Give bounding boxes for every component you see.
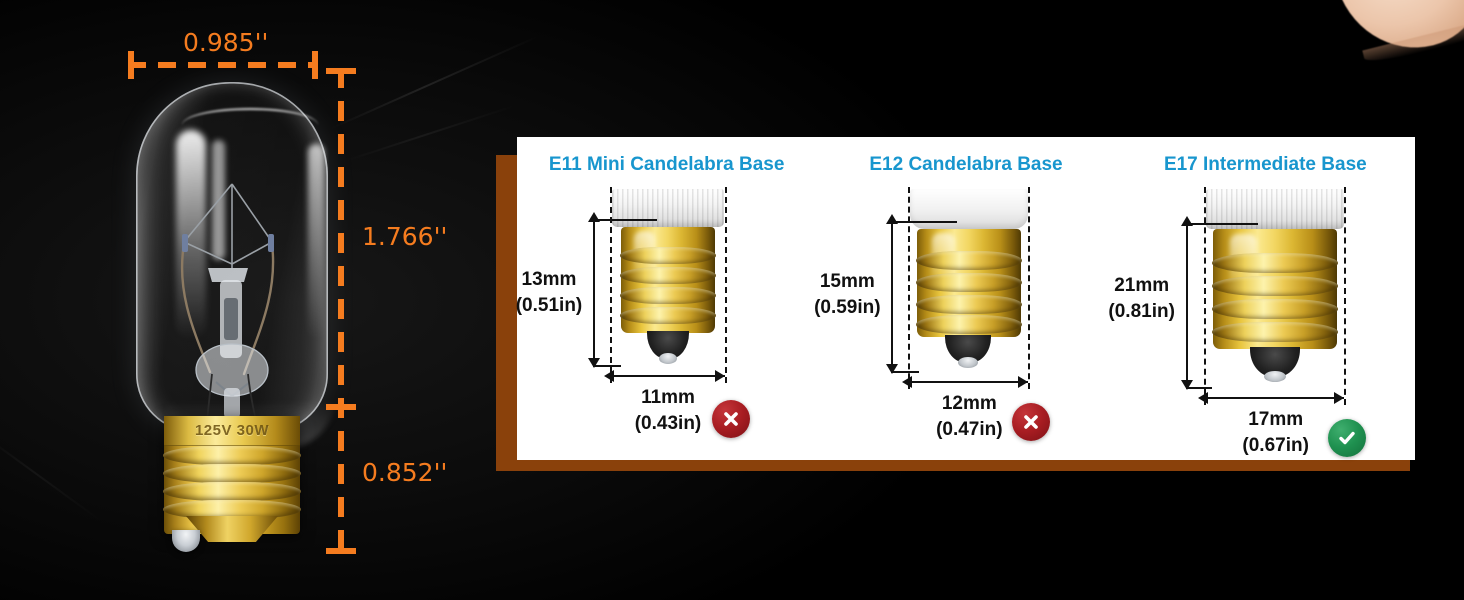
height-imperial: (0.81in)	[1100, 299, 1184, 325]
shell-thread	[916, 251, 1022, 270]
height-imperial: (0.59in)	[806, 295, 888, 321]
height-dimension-line	[338, 68, 344, 554]
socket-tip-contact	[1250, 347, 1300, 377]
green-check-icon	[1328, 419, 1366, 457]
socket-screw-shell	[917, 229, 1021, 337]
height-imperial: (0.51in)	[509, 293, 589, 319]
base-thread	[163, 482, 301, 501]
socket-figure-e12: 15mm (0.59in) 12mm (0.47in)	[816, 185, 1115, 415]
socket-ferrule	[612, 189, 724, 227]
width-dimension-line	[128, 62, 318, 68]
height-tick-top	[593, 219, 657, 221]
shell-thread	[620, 287, 716, 304]
width-measure-line	[611, 375, 725, 377]
socket-figure-e17: 21mm (0.81in) 17mm (0.67in)	[1116, 185, 1415, 415]
bulb-filament-icon	[136, 82, 328, 432]
comparison-column-e11: E11 Mini Candelabra Base	[517, 137, 816, 460]
height-tick-bottom	[1186, 387, 1212, 389]
shell-thread	[1212, 253, 1338, 273]
height-tick-bottom	[891, 371, 919, 373]
height-label-e17: 21mm (0.81in)	[1100, 273, 1184, 324]
shell-thread	[916, 273, 1022, 292]
width-label-e11: 11mm (0.43in)	[628, 385, 708, 436]
height-label-e12: 15mm (0.59in)	[806, 269, 888, 320]
height-dimension-endcap-bottom	[326, 548, 356, 554]
bulb-stage: 125V 30W	[118, 60, 368, 570]
shell-thread	[1212, 276, 1338, 296]
red-x-icon	[1012, 403, 1050, 441]
width-metric: 17mm	[1248, 409, 1303, 430]
extension-line-right	[725, 187, 727, 383]
shell-thread	[620, 307, 716, 324]
bulb-base-height-label: 0.852''	[362, 458, 447, 487]
shell-thread	[1212, 299, 1338, 319]
height-dimension-tick-mid	[326, 404, 356, 410]
width-dimension-endcap	[128, 51, 134, 79]
extension-line-right	[1344, 187, 1346, 405]
height-tick-top	[891, 221, 957, 223]
height-measure-line	[891, 221, 893, 371]
width-arrow-right	[1018, 376, 1028, 388]
shell-thread	[1212, 322, 1338, 342]
height-label-e11: 13mm (0.51in)	[509, 267, 589, 318]
comparison-column-e17: E17 Intermediate Base	[1116, 137, 1415, 460]
height-measure-line	[593, 219, 595, 365]
width-measure-line	[909, 381, 1028, 383]
socket-ferrule	[910, 189, 1028, 229]
height-metric: 21mm	[1114, 275, 1169, 296]
height-tick-top	[1186, 223, 1258, 225]
extension-line-right	[1028, 187, 1030, 389]
x-glyph	[720, 408, 742, 430]
width-arrow-right	[1334, 392, 1344, 404]
x-glyph	[1020, 411, 1042, 433]
height-metric: 13mm	[522, 269, 577, 290]
base-thread	[163, 464, 301, 483]
width-dimension-endcap	[312, 51, 318, 79]
socket-screw-shell	[621, 227, 715, 333]
width-arrow-left	[604, 370, 614, 382]
width-imperial: (0.67in)	[1234, 433, 1318, 459]
comparison-column-e12: E12 Candelabra Base	[816, 137, 1115, 460]
height-measure-line	[1186, 223, 1188, 387]
column-title-e17: E17 Intermediate Base	[1116, 154, 1415, 176]
column-title-e12: E12 Candelabra Base	[816, 154, 1115, 176]
width-label-e12: 12mm (0.47in)	[928, 391, 1010, 442]
comparison-panel: E11 Mini Candelabra Base	[517, 137, 1415, 460]
width-metric: 11mm	[641, 387, 695, 408]
bulb-width-label: 0.985''	[183, 28, 268, 57]
height-dimension-endcap-top	[326, 68, 356, 74]
width-measure-line	[1205, 397, 1344, 399]
red-x-icon	[712, 400, 750, 438]
width-imperial: (0.43in)	[628, 411, 708, 437]
column-title-e11: E11 Mini Candelabra Base	[517, 154, 816, 176]
shell-thread	[620, 247, 716, 264]
socket-tip-contact	[945, 335, 991, 363]
width-metric: 12mm	[942, 393, 997, 414]
base-contact-tip	[172, 530, 200, 552]
shell-thread	[916, 295, 1022, 314]
bulb-total-height-label: 1.766''	[362, 222, 447, 251]
height-tick-bottom	[593, 365, 621, 367]
width-arrow-left	[902, 376, 912, 388]
check-glyph	[1335, 426, 1359, 450]
width-arrow-right	[715, 370, 725, 382]
socket-screw-shell	[1213, 229, 1337, 349]
base-stamp-text: 125V 30W	[164, 422, 300, 439]
width-label-e17: 17mm (0.67in)	[1234, 407, 1318, 458]
width-imperial: (0.47in)	[928, 417, 1010, 443]
shell-thread	[620, 267, 716, 284]
base-thread	[163, 446, 301, 465]
height-metric: 15mm	[820, 271, 875, 292]
width-arrow-left	[1198, 392, 1208, 404]
bulb-brass-base: 125V 30W	[164, 416, 300, 534]
socket-figure-e11: 13mm (0.51in) 11mm (0.43in)	[517, 185, 816, 415]
shell-thread	[916, 315, 1022, 334]
socket-tip-contact	[647, 331, 689, 359]
